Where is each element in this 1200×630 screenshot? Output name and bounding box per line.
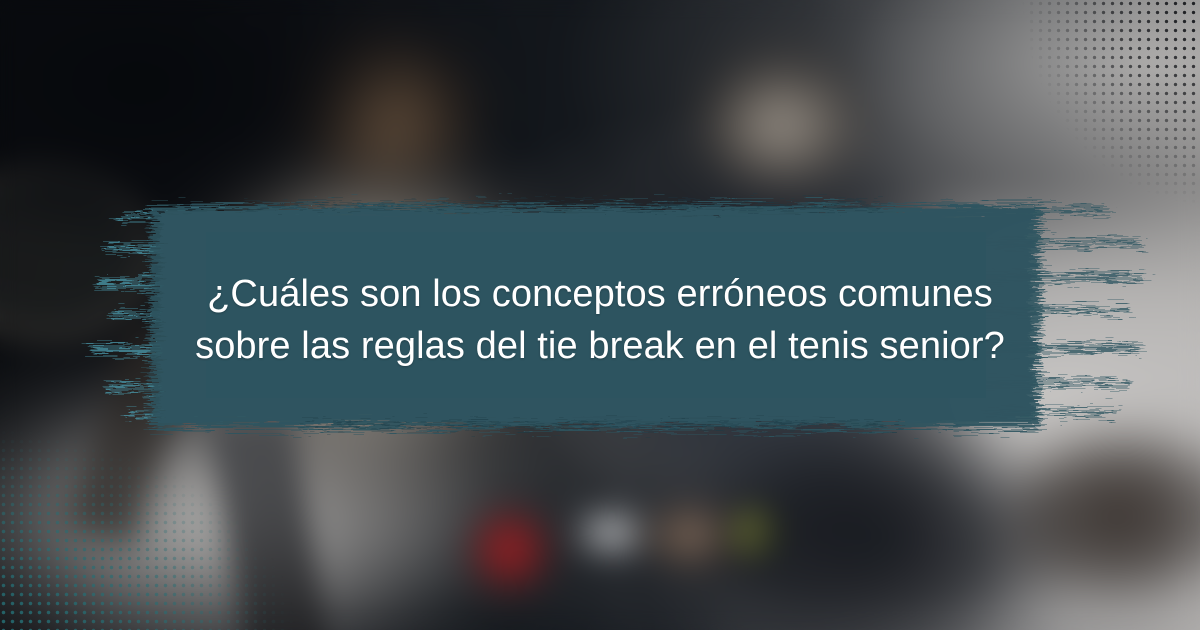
headline-text: ¿Cuáles son los conceptos erróneos comun… [0, 268, 1200, 372]
share-card: ¿Cuáles son los conceptos erróneos comun… [0, 0, 1200, 630]
